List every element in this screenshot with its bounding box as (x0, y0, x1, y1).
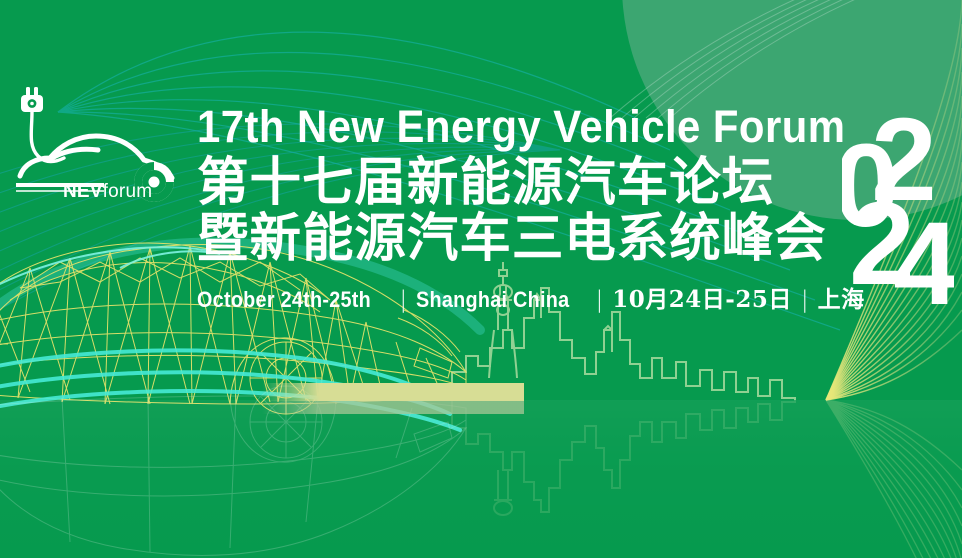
logo-wordmark-forum: forum (103, 181, 153, 202)
khaki-accent-bar (262, 383, 524, 401)
event-poster: NEVforum 17th New Energy Vehicle Forum 第… (0, 0, 962, 558)
event-location-english: Shanghai China (416, 287, 569, 313)
event-meta-line: October 24th-25th | Shanghai China | 10月… (197, 280, 842, 314)
logo-wordmark: NEVforum (63, 181, 152, 203)
year-digit-4: 4 (893, 198, 954, 306)
year-2024-graphic: 2 0 2 4 (842, 108, 954, 306)
title-block: 17th New Energy Vehicle Forum 第十七届新能源汽车论… (197, 104, 842, 314)
logo-wordmark-nev: NEV (63, 181, 103, 202)
page-title-chinese-line2: 暨新能源汽车三电系统峰会 (197, 210, 836, 268)
khaki-accent-bar-reflection (262, 401, 524, 414)
event-date-chinese: 10月24日-25日 (612, 280, 792, 314)
meta-separator-1: | (390, 287, 416, 313)
page-title-chinese-line1: 第十七届新能源汽车论坛 (197, 154, 836, 212)
event-date-english: October 24th-25th (197, 287, 371, 313)
charging-plug-icon (21, 87, 43, 112)
meta-separator-3: | (792, 287, 818, 313)
page-title-english: 17th New Energy Vehicle Forum (197, 104, 797, 150)
mirror-reflection-band (0, 400, 962, 558)
meta-separator-2: | (587, 287, 613, 313)
